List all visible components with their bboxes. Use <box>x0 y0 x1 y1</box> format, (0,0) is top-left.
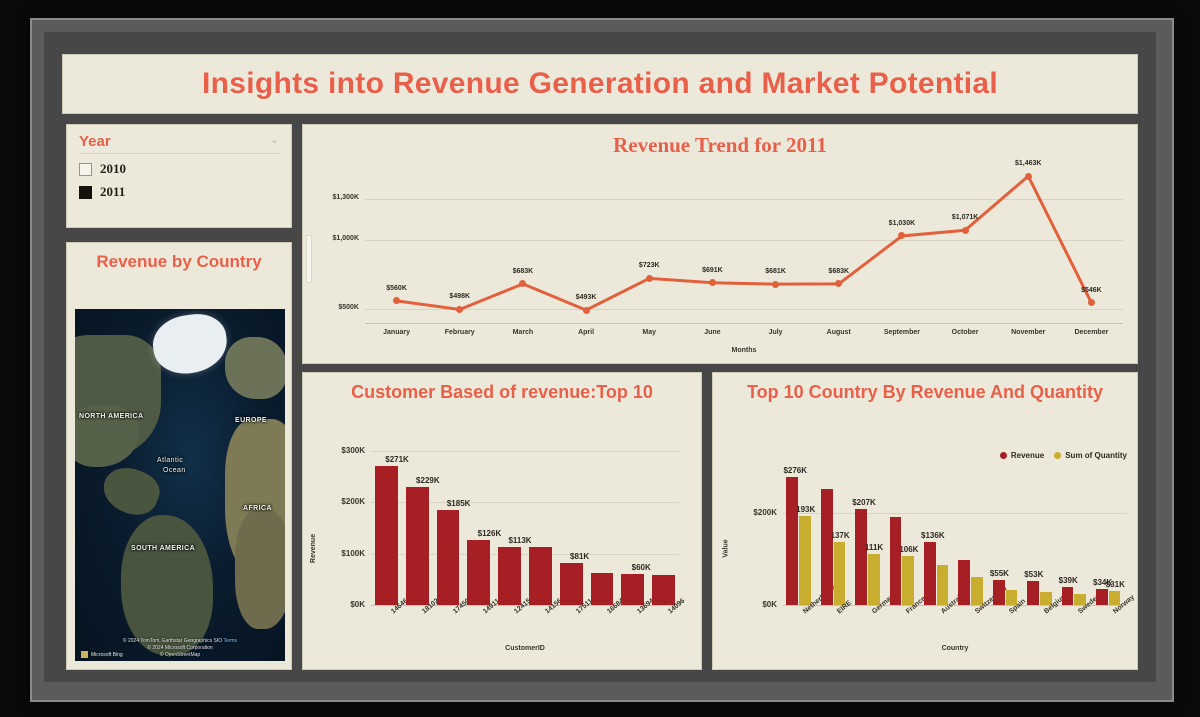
bar-label: $276K <box>783 466 807 475</box>
bar[interactable] <box>1096 589 1108 605</box>
bar-label: 106K <box>899 545 918 554</box>
data-point[interactable] <box>1025 173 1032 180</box>
ytick-label: $500K <box>307 304 359 311</box>
slicer-label-2011: 2011 <box>100 184 125 200</box>
customer-top10-title: Customer Based of revenue:Top 10 <box>303 373 701 404</box>
customer-yaxis-title: Revenue <box>310 534 317 563</box>
bar[interactable] <box>375 466 398 605</box>
bar-label: $39K <box>1059 576 1078 585</box>
bing-logo: Microsoft Bing <box>81 651 123 658</box>
map-landmass-africa-2 <box>235 509 285 629</box>
bar[interactable] <box>498 547 521 605</box>
bar[interactable] <box>1027 581 1039 605</box>
screenshot-frame: Insights into Revenue Generation and Mar… <box>0 0 1200 717</box>
ytick-label: $200K <box>319 497 365 506</box>
bar-label: 193K <box>796 505 815 514</box>
xtick-label: July <box>744 329 807 336</box>
bar[interactable] <box>855 509 867 605</box>
bar[interactable] <box>958 560 970 605</box>
ytick-label: $100K <box>319 549 365 558</box>
gridline <box>371 451 679 452</box>
ytick-label: $0K <box>733 600 777 609</box>
gridline <box>783 513 1127 514</box>
revenue-trend-title: Revenue Trend for 2011 <box>303 125 1137 158</box>
legend-label-quantity: Sum of Quantity <box>1065 451 1127 460</box>
legend-dot-revenue-icon <box>1000 452 1007 459</box>
bar[interactable] <box>529 547 552 605</box>
map-card-title: Revenue by Country <box>67 243 291 279</box>
bar[interactable] <box>406 487 429 605</box>
bar[interactable] <box>437 510 460 605</box>
slicer-item-2010[interactable]: 2010 <box>79 161 279 177</box>
data-point[interactable] <box>583 307 590 314</box>
map-landmass-south-america <box>121 515 213 655</box>
revenue-trend-plot: $500K$1,000K$1,300K$560KJanuary$498KFebr… <box>365 171 1123 323</box>
bar-label: $207K <box>852 498 876 507</box>
customer-top10-card: Customer Based of revenue:Top 10 Revenue… <box>302 372 702 670</box>
bar[interactable] <box>1062 587 1074 605</box>
country-xaxis-title: Country <box>783 645 1127 652</box>
bar[interactable] <box>937 565 949 605</box>
bar-label: $60K <box>632 563 651 572</box>
xtick-label: April <box>555 329 618 336</box>
map-attribution-line1: © 2024 TomTom, Earthstar Geographics SIO <box>123 638 222 644</box>
slicer-header: Year ⌄ <box>79 133 279 150</box>
ytick-label: $300K <box>319 446 365 455</box>
ytick-label: $200K <box>733 508 777 517</box>
chevron-down-icon[interactable]: ⌄ <box>270 133 279 147</box>
bar[interactable] <box>467 540 490 605</box>
map-label-south-america: SOUTH AMERICA <box>131 545 195 552</box>
customer-xaxis-title: CustomerID <box>371 645 679 652</box>
map-label-africa: AFRICA <box>243 505 272 512</box>
map-label-atlantic: Atlantic <box>157 457 183 464</box>
bar[interactable] <box>993 580 1005 605</box>
xtick-label: August <box>807 329 870 336</box>
year-slicer-panel[interactable]: Year ⌄ 2010 2011 <box>66 124 292 228</box>
ytick-label: $1,000K <box>307 235 359 242</box>
legend-item-revenue[interactable]: Revenue <box>1000 451 1044 460</box>
legend-item-quantity[interactable]: Sum of Quantity <box>1054 451 1127 460</box>
bar-label: $136K <box>921 531 945 540</box>
xtick-label: June <box>681 329 744 336</box>
xtick-label: January <box>365 329 428 336</box>
customer-top10-plot: $0K$100K$200K$300K$271K14646$229K18102$1… <box>371 451 679 605</box>
xaxis-line <box>365 323 1123 324</box>
xtick-label: December <box>1060 329 1123 336</box>
xtick-label: May <box>618 329 681 336</box>
xtick-label: February <box>428 329 491 336</box>
data-label: $493K <box>556 294 616 301</box>
checkbox-icon-2011[interactable] <box>79 186 92 199</box>
map-label-ocean: Ocean <box>163 467 186 474</box>
data-label: $1,071K <box>935 214 995 221</box>
chart-scrollbar[interactable] <box>306 235 312 283</box>
data-label: $683K <box>493 268 553 275</box>
bar[interactable] <box>652 575 675 605</box>
bar[interactable] <box>902 556 914 605</box>
xtick-label: March <box>491 329 554 336</box>
country-top10-card: Top 10 Country By Revenue And Quantity R… <box>712 372 1138 670</box>
bar-label: $55K <box>990 569 1009 578</box>
ytick-label: $1,300K <box>307 194 359 201</box>
data-label: $498K <box>430 293 490 300</box>
bar-label: $31K <box>1106 580 1125 589</box>
country-top10-title: Top 10 Country By Revenue And Quantity <box>713 373 1137 404</box>
data-point[interactable] <box>962 227 969 234</box>
bar-label: $229K <box>416 476 440 485</box>
bar[interactable] <box>890 517 902 605</box>
xtick-label: November <box>997 329 1060 336</box>
bar[interactable] <box>786 477 798 605</box>
revenue-trend-xaxis-title: Months <box>365 347 1123 354</box>
slicer-label-2010: 2010 <box>100 161 126 177</box>
bar-label: $113K <box>508 536 531 545</box>
data-label: $1,030K <box>872 220 932 227</box>
bar-label: 137K <box>831 531 850 540</box>
bar-label: $271K <box>385 455 409 464</box>
bar[interactable] <box>971 577 983 605</box>
slicer-item-2011[interactable]: 2011 <box>79 184 279 200</box>
data-label: $683K <box>809 268 869 275</box>
data-label: $723K <box>619 262 679 269</box>
bar[interactable] <box>621 574 644 605</box>
xtick-label: September <box>870 329 933 336</box>
data-label: $546K <box>1061 287 1121 294</box>
revenue-by-country-map-card[interactable]: Revenue by Country NORTH AMERICA EUROPE … <box>66 242 292 670</box>
map-terms-link[interactable]: Terms <box>223 638 237 644</box>
bing-logo-label: Microsoft Bing <box>91 652 123 658</box>
map-label-north-america: NORTH AMERICA <box>79 413 143 420</box>
bar-label: $185K <box>447 499 471 508</box>
data-label: $1,463K <box>998 160 1058 167</box>
checkbox-icon-2010[interactable] <box>79 163 92 176</box>
dashboard-title-panel: Insights into Revenue Generation and Mar… <box>62 54 1138 114</box>
revenue-trend-card: Revenue Trend for 2011 $500K$1,000K$1,30… <box>302 124 1138 364</box>
bar[interactable] <box>591 573 614 605</box>
country-chart-legend: Revenue Sum of Quantity <box>1000 451 1127 460</box>
xtick-label: October <box>934 329 997 336</box>
bar-label: $53K <box>1024 570 1043 579</box>
bar[interactable] <box>868 554 880 605</box>
bar-label: $81K <box>570 552 589 561</box>
bar[interactable] <box>560 563 583 605</box>
data-label: $681K <box>746 268 806 275</box>
country-yaxis-title: Value <box>723 539 730 557</box>
ytick-label: $0K <box>319 600 365 609</box>
bar[interactable] <box>924 542 936 605</box>
map-image[interactable]: NORTH AMERICA EUROPE Atlantic Ocean AFRI… <box>75 309 285 661</box>
bar[interactable] <box>821 489 833 605</box>
slicer-divider <box>79 153 279 154</box>
dashboard-canvas: Insights into Revenue Generation and Mar… <box>44 32 1156 682</box>
bar[interactable] <box>799 516 811 605</box>
page-title: Insights into Revenue Generation and Mar… <box>202 67 998 101</box>
dashboard-outer-frame: Insights into Revenue Generation and Mar… <box>30 18 1174 702</box>
bar-label: 111K <box>865 543 883 552</box>
bing-logo-icon <box>81 651 88 658</box>
slicer-title: Year <box>79 133 111 150</box>
data-point[interactable] <box>646 275 653 282</box>
map-landmass-europe <box>225 337 285 399</box>
map-label-europe: EUROPE <box>235 417 267 424</box>
bar[interactable] <box>834 542 846 605</box>
data-point[interactable] <box>772 281 779 288</box>
legend-label-revenue: Revenue <box>1011 451 1044 460</box>
bar-label: $126K <box>478 529 502 538</box>
country-top10-plot: $0K$200K$276K193KNetherlands137KEIRE$207… <box>783 471 1127 605</box>
data-label: $691K <box>682 267 742 274</box>
legend-dot-quantity-icon <box>1054 452 1061 459</box>
data-label: $560K <box>367 285 427 292</box>
